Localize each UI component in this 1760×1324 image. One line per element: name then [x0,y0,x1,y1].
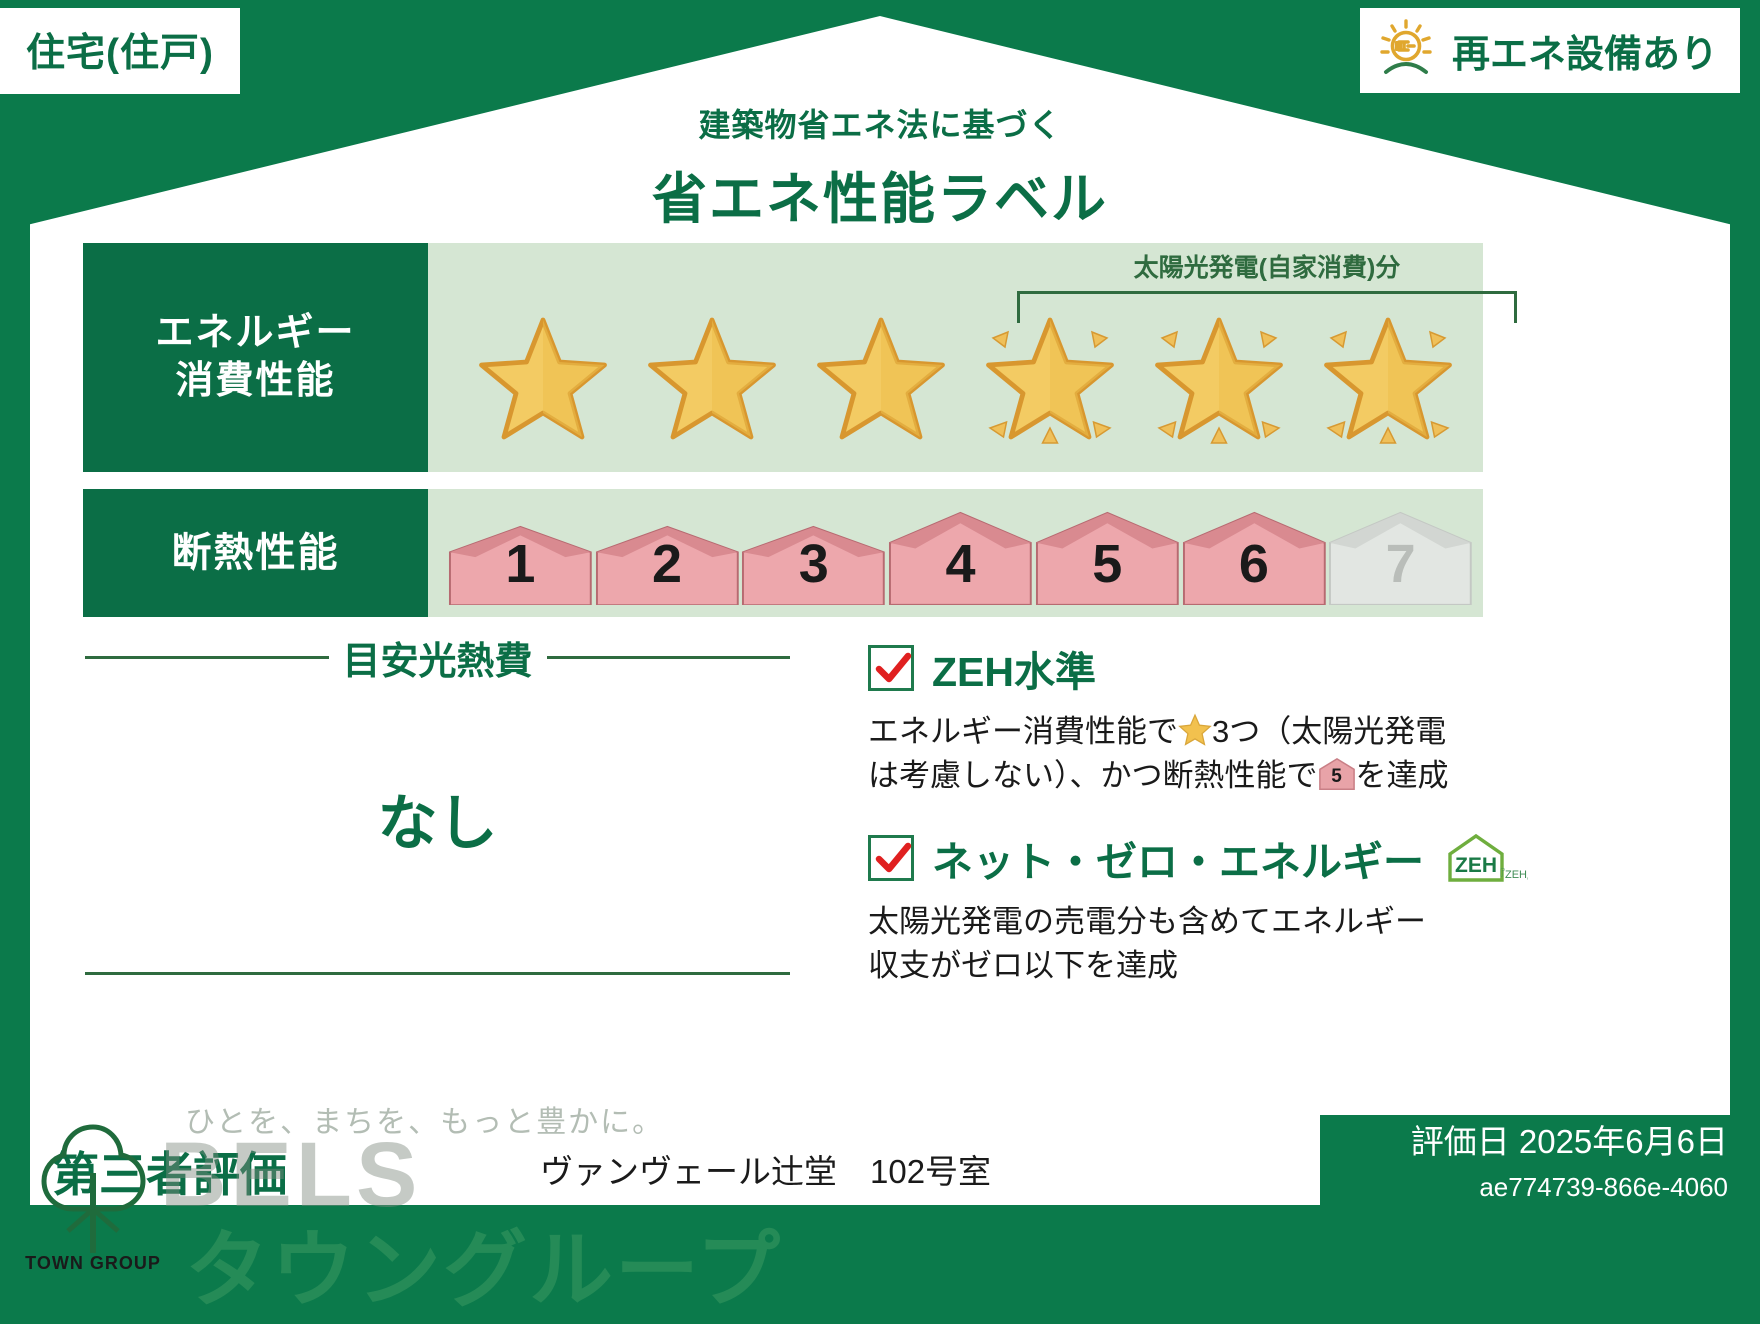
net-zero-description: 太陽光発電の売電分も含めてエネルギー 収支がゼロ以下を達成 [868,900,1488,988]
energy-star-6 [1313,302,1463,452]
insulation-level-7: 7 [1328,511,1473,607]
insulation-row-label: 断熱性能 [83,489,428,617]
inline-house-badge: 5 [1318,757,1356,791]
net-zero-desc-line1: 太陽光発電の売電分も含めてエネルギー [868,904,1426,939]
net-zero-energy-block: ネット・ゼロ・エネルギー ZEH 『ZEH』 太陽光発電の売電分も含めてエネルギ… [868,828,1488,988]
insulation-level-2: 2 [595,525,740,607]
insulation-level-number: 2 [595,533,740,595]
zeh-desc-part3: を達成 [1356,758,1449,793]
zeh-desc-part2: は考慮しない）、かつ断熱性能で [868,758,1318,793]
inline-star-icon [1178,713,1212,747]
zeh-standard-description: エネルギー消費性能で 3つ（太陽光発電 は考慮しない）、かつ断熱性能で 5 を達… [868,710,1488,798]
energy-star-4 [975,302,1125,452]
renewable-equipment-badge: 再エネ設備あり [1360,8,1740,93]
insulation-level-number: 1 [448,533,593,595]
insulation-level-number: 4 [888,533,1033,595]
insulation-level-6: 6 [1182,511,1327,607]
energy-label-line1: エネルギー [155,310,355,358]
zeh-logo-icon: ZEH 『ZEH』 [1442,830,1528,886]
energy-star-2 [637,302,787,452]
title-subtitle: 建築物省エネ法に基づく [0,100,1760,146]
zeh-logo-sub: 『ZEH』 [1494,868,1528,881]
solar-bracket-label: 太陽光発電(自家消費)分 [1017,248,1517,284]
check-icon [874,650,912,688]
zeh-standard-heading: ZEH水準 [868,638,1488,698]
heading-rule-right [547,656,791,659]
third-party-evaluation-label: 第三者評価 [52,1136,287,1205]
property-name: ヴァンヴェール辻堂 102号室 [540,1145,991,1193]
insulation-level-3: 3 [741,525,886,607]
insulation-level-number: 5 [1035,533,1180,595]
zeh-desc-part1: エネルギー消費性能で [868,714,1178,749]
utility-cost-heading: 目安光熱費 [85,630,790,685]
energy-star-1 [468,302,618,452]
zeh-standard-checkbox[interactable] [868,645,914,691]
insulation-level-number: 7 [1328,533,1473,595]
energy-performance-row: エネルギー 消費性能 太陽光発電(自家消費)分 [83,243,1483,472]
check-icon [874,840,912,878]
energy-label-line2: 消費性能 [175,358,335,406]
heading-rule-left [85,656,329,659]
utility-cost-section: 目安光熱費 なし [85,630,790,975]
evaluation-date: 評価日 2025年6月6日 [1411,1115,1728,1163]
insulation-row-body: 1 2 3 4 5 6 7 [428,489,1483,617]
title-main: 省エネ性能ラベル [0,154,1760,234]
evaluation-code: ae774739-866e-4060 [1479,1172,1728,1203]
zeh-logo-text: ZEH [1455,854,1497,877]
net-zero-title: ネット・ゼロ・エネルギー [932,828,1424,888]
net-zero-desc-line2: 収支がゼロ以下を達成 [868,948,1178,983]
utility-cost-heading-text: 目安光熱費 [343,630,533,685]
net-zero-checkbox[interactable] [868,835,914,881]
utility-cost-value: なし [85,775,790,862]
inline-house-number: 5 [1318,757,1356,791]
insulation-level-scale: 1 2 3 4 5 6 7 [448,489,1473,617]
energy-row-body: 太陽光発電(自家消費)分 [428,243,1483,472]
zeh-desc-star-part: 3つ（太陽光発電 [1212,714,1446,749]
zeh-standard-block: ZEH水準 エネルギー消費性能で 3つ（太陽光発電 は考慮しない）、かつ断熱性能… [868,638,1488,798]
energy-star-rating [458,291,1473,462]
insulation-level-1: 1 [448,525,593,607]
energy-row-label: エネルギー 消費性能 [83,243,428,472]
insulation-level-number: 6 [1182,533,1327,595]
label-title-block: 建築物省エネ法に基づく 省エネ性能ラベル [0,100,1760,234]
zeh-section: ZEH水準 エネルギー消費性能で 3つ（太陽光発電 は考慮しない）、かつ断熱性能… [868,638,1488,988]
insulation-level-4: 4 [888,511,1033,607]
energy-star-3 [806,302,956,452]
insulation-label-text: 断熱性能 [172,528,340,578]
renewable-badge-label: 再エネ設備あり [1452,23,1718,78]
house-type-tag: 住宅(住戸) [0,8,240,94]
net-zero-heading: ネット・ゼロ・エネルギー ZEH 『ZEH』 [868,828,1488,888]
solar-plug-icon [1374,16,1438,85]
zeh-standard-title: ZEH水準 [932,638,1096,698]
utility-cost-bottom-rule [85,972,790,975]
house-type-label: 住宅(住戸) [26,32,214,75]
insulation-performance-row: 断熱性能 1 2 3 4 5 [83,489,1483,617]
insulation-level-5: 5 [1035,511,1180,607]
energy-star-5 [1144,302,1294,452]
footer-bar [0,1205,1760,1315]
insulation-level-number: 3 [741,533,886,595]
